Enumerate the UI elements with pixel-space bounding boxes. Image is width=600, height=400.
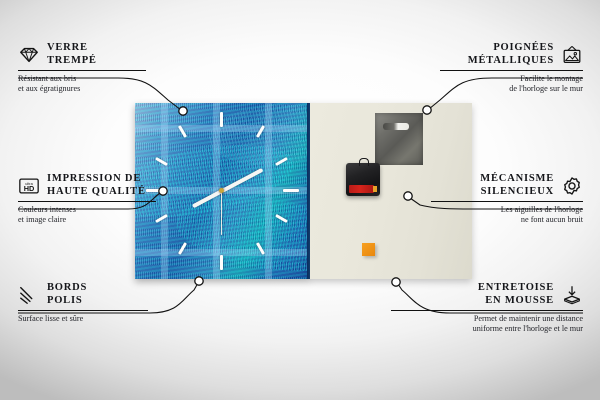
- tick-3: [283, 189, 299, 192]
- feature-description: Les aiguilles de l'horloge ne font aucun…: [408, 205, 583, 225]
- foam-spacer-arrow-icon: [561, 284, 583, 306]
- feature-poignees-metalliques[interactable]: POIGNÉES MÉTALLIQUES Facilite le montage…: [418, 42, 583, 94]
- feature-title: POIGNÉES MÉTALLIQUES: [468, 42, 554, 67]
- feature-description: Résistant aux bris et aux égratignures: [18, 74, 168, 94]
- feature-mecanisme-silencieux[interactable]: MÉCANISME SILENCIEUX Les aiguilles de l'…: [408, 173, 583, 225]
- movement-hanger-hook: [359, 158, 369, 166]
- svg-text:HD: HD: [24, 184, 35, 193]
- feature-header: VERRE TREMPÉ: [18, 42, 168, 67]
- feature-entretoise-en-mousse[interactable]: ENTRETOISE EN MOUSSE Permet de maintenir…: [368, 282, 583, 334]
- feature-description: Surface lisse et sûre: [18, 314, 168, 324]
- metal-hanger-plate: [375, 113, 423, 165]
- feature-header: POIGNÉES MÉTALLIQUES: [418, 42, 583, 67]
- feature-title: BORDS POLIS: [47, 282, 87, 307]
- feature-header: BORDS POLIS: [18, 282, 168, 307]
- feature-header: MÉCANISME SILENCIEUX: [408, 173, 583, 198]
- tick-6: [220, 255, 223, 270]
- feature-bords-polis[interactable]: BORDS POLIS Surface lisse et sûre: [18, 282, 168, 324]
- feature-divider: [18, 70, 146, 71]
- feature-title: VERRE TREMPÉ: [47, 42, 97, 67]
- polished-edges-icon: [18, 284, 40, 306]
- feature-divider: [18, 201, 156, 202]
- infographic-canvas: VERRE TREMPÉ Résistant aux bris et aux é…: [0, 0, 600, 400]
- feature-header: ENTRETOISE EN MOUSSE: [368, 282, 583, 307]
- battery: [349, 185, 374, 193]
- feature-description: Permet de maintenir une distance uniform…: [368, 314, 583, 334]
- wall-mount-picture-icon: [561, 44, 583, 66]
- feature-title: ENTRETOISE EN MOUSSE: [478, 282, 554, 307]
- gear-icon: [561, 175, 583, 197]
- feature-description: Couleurs intenses et image claire: [18, 205, 178, 225]
- feature-divider: [431, 201, 583, 202]
- foam-spacer-square: [362, 243, 375, 256]
- feature-title: IMPRESSION DE HAUTE QUALITÉ: [47, 173, 146, 198]
- feature-divider: [440, 70, 583, 71]
- ultra-hd-icon: ultra HD: [18, 175, 40, 197]
- tick-12: [220, 112, 223, 127]
- feature-impression-haute-qualite[interactable]: ultra HD IMPRESSION DE HAUTE QUALITÉ Cou…: [18, 173, 178, 225]
- feature-title: MÉCANISME SILENCIEUX: [480, 173, 554, 198]
- clock-movement-box: [346, 163, 380, 196]
- feature-description: Facilite le montage de l'horloge sur le …: [418, 74, 583, 94]
- feature-verre-trempe[interactable]: VERRE TREMPÉ Résistant aux bris et aux é…: [18, 42, 168, 94]
- feature-header: ultra HD IMPRESSION DE HAUTE QUALITÉ: [18, 173, 178, 198]
- feature-divider: [18, 310, 148, 311]
- feature-divider: [391, 310, 583, 311]
- hands-center-cap: [219, 188, 224, 193]
- diamond-icon: [18, 44, 40, 66]
